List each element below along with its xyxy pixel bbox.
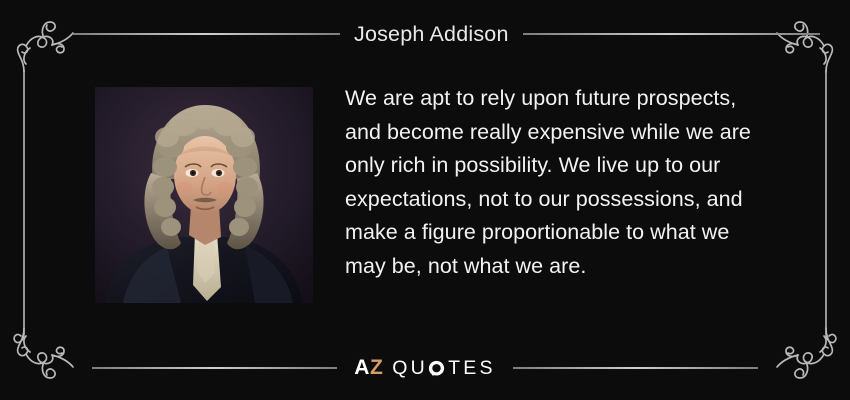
footer: AZ Q U T E S — [0, 355, 850, 381]
portrait-painting — [95, 87, 313, 303]
footer-rule-right — [513, 367, 758, 369]
quote-text: We are apt to rely upon future prospects… — [345, 82, 770, 283]
author-header: Joseph Addison — [0, 20, 850, 48]
footer-rule-left — [92, 367, 337, 369]
speech-bubble-o-icon — [428, 360, 445, 377]
logo-letter-z: Z — [370, 356, 383, 379]
logo-letter-u: U — [411, 357, 428, 380]
quote-card: Joseph Addison — [0, 0, 850, 400]
azquotes-logo[interactable]: AZ Q U T E S — [337, 356, 512, 380]
logo-wordmark-quotes: Q U T E S — [392, 357, 495, 380]
logo-letter-s: S — [479, 357, 495, 380]
header-rule-right — [523, 33, 820, 35]
logo-letter-t: T — [448, 357, 463, 380]
logo-letter-q: Q — [392, 357, 410, 380]
quote-body: We are apt to rely upon future prospects… — [0, 80, 850, 310]
author-name: Joseph Addison — [340, 22, 523, 47]
logo-letter-a: AZ — [354, 356, 383, 380]
author-portrait — [95, 87, 313, 303]
logo-letter-e: E — [463, 357, 479, 380]
header-rule-left — [73, 33, 340, 35]
